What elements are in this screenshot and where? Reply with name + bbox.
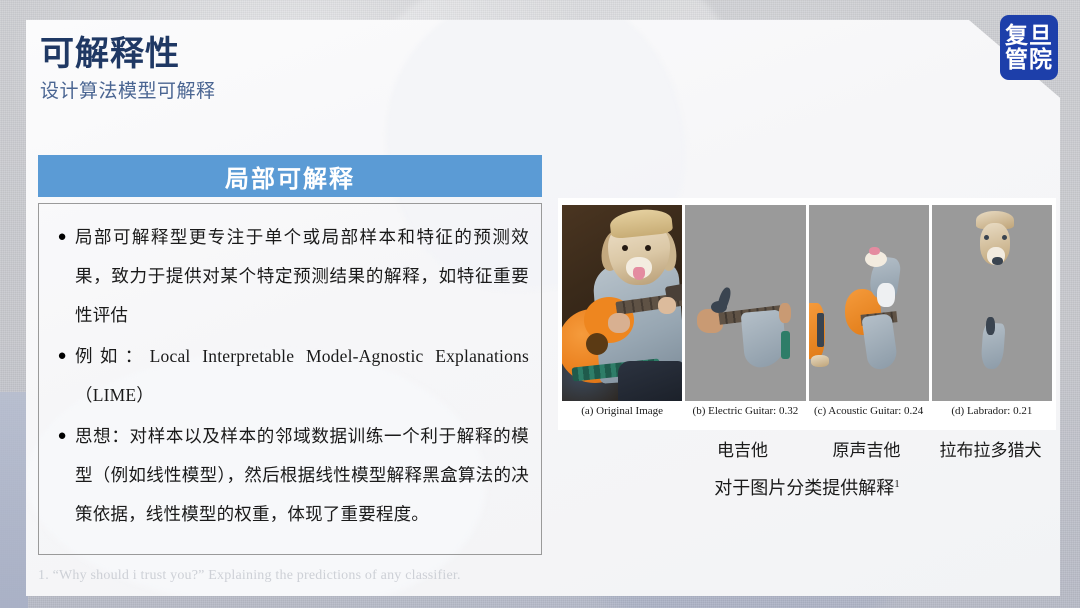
list-item: ● 例如：Local Interpretable Model-Agnostic … — [49, 337, 529, 415]
figure-caption-b: (b) Electric Guitar: 0.32 — [685, 405, 805, 427]
page-title: 可解释性 — [40, 26, 180, 75]
photo-dog-tongue — [633, 267, 645, 280]
figure-image-original — [562, 205, 682, 401]
mask-fragment — [986, 317, 995, 335]
figure-caption-footnote-marker: 1 — [894, 478, 900, 490]
mask-fragment — [1002, 235, 1007, 240]
mask-fragment — [992, 257, 1003, 265]
figure-caption-d: (d) Labrador: 0.21 — [932, 405, 1052, 427]
brand-logo-line2: 管院 — [1005, 48, 1053, 71]
figure-cn-label-d: 拉布拉多猎犬 — [930, 436, 1051, 464]
bullet-text: 思想：对样本以及样本的邻域数据训练一个利于解释的模型（例如线性模型），然后根据线… — [75, 417, 529, 534]
figure-image-electric-guitar — [685, 205, 805, 401]
brand-logo: 复旦 管院 — [1000, 15, 1058, 80]
photo-hand-left — [608, 313, 630, 333]
list-item: ● 思想：对样本以及样本的邻域数据训练一个利于解释的模型（例如线性模型），然后根… — [49, 417, 529, 534]
bullet-marker-icon: ● — [49, 337, 75, 376]
figure-chinese-caption-text: 对于图片分类提供解释 — [714, 478, 894, 498]
bullet-list-box: ● 局部可解释型更专注于单个或局部样本和特征的预测效果，致力于提供对某个特定预测… — [38, 203, 542, 555]
mask-fragment — [984, 235, 989, 240]
photo-dog-eye-right — [645, 245, 651, 251]
figure-caption-a: (a) Original Image — [562, 405, 682, 427]
bullet-text: 例如：Local Interpretable Model-Agnostic Ex… — [75, 337, 529, 415]
figure-chinese-labels: 电吉他 原声吉他 拉布拉多猎犬 — [558, 436, 1056, 464]
page-subtitle: 设计算法模型可解释 — [40, 76, 216, 103]
photo-guitar-soundhole — [586, 333, 608, 355]
figure-caption-row: (a) Original Image (b) Electric Guitar: … — [562, 405, 1052, 427]
bullet-marker-icon: ● — [49, 218, 75, 257]
section-banner-label: 局部可解释 — [225, 159, 355, 194]
bullet-text: 局部可解释型更专注于单个或局部样本和特征的预测效果，致力于提供对某个特定预测结果… — [75, 218, 529, 335]
figure-cn-label-a — [558, 436, 679, 464]
bullet-marker-icon: ● — [49, 417, 75, 456]
mask-fragment — [781, 331, 790, 359]
mask-fragment — [715, 286, 733, 314]
lime-figure: (a) Original Image (b) Electric Guitar: … — [558, 198, 1056, 430]
mask-fragment — [869, 247, 880, 255]
figure-cn-label-c: 原声吉他 — [806, 436, 927, 464]
background-left-band — [0, 392, 28, 608]
brand-logo-line1: 复旦 — [1005, 24, 1053, 47]
mask-fragment — [779, 303, 791, 323]
list-item: ● 局部可解释型更专注于单个或局部样本和特征的预测效果，致力于提供对某个特定预测… — [49, 218, 529, 335]
figure-chinese-caption: 对于图片分类提供解释1 — [558, 474, 1056, 500]
photo-dog-eye-left — [622, 245, 628, 251]
figure-caption-c: (c) Acoustic Guitar: 0.24 — [809, 405, 929, 427]
mask-fragment — [877, 283, 895, 307]
figure-image-acoustic-guitar — [809, 205, 929, 401]
figure-image-strip — [562, 205, 1052, 401]
footnote-reference: 1. “Why should i trust you?” Explaining … — [38, 568, 461, 584]
photo-hand-right — [658, 297, 676, 314]
figure-cn-label-b: 电吉他 — [682, 436, 803, 464]
figure-image-labrador — [932, 205, 1052, 401]
section-banner: 局部可解释 — [38, 155, 542, 197]
photo-jeans — [618, 361, 682, 401]
mask-fragment — [811, 355, 829, 367]
mask-fragment — [817, 313, 824, 347]
